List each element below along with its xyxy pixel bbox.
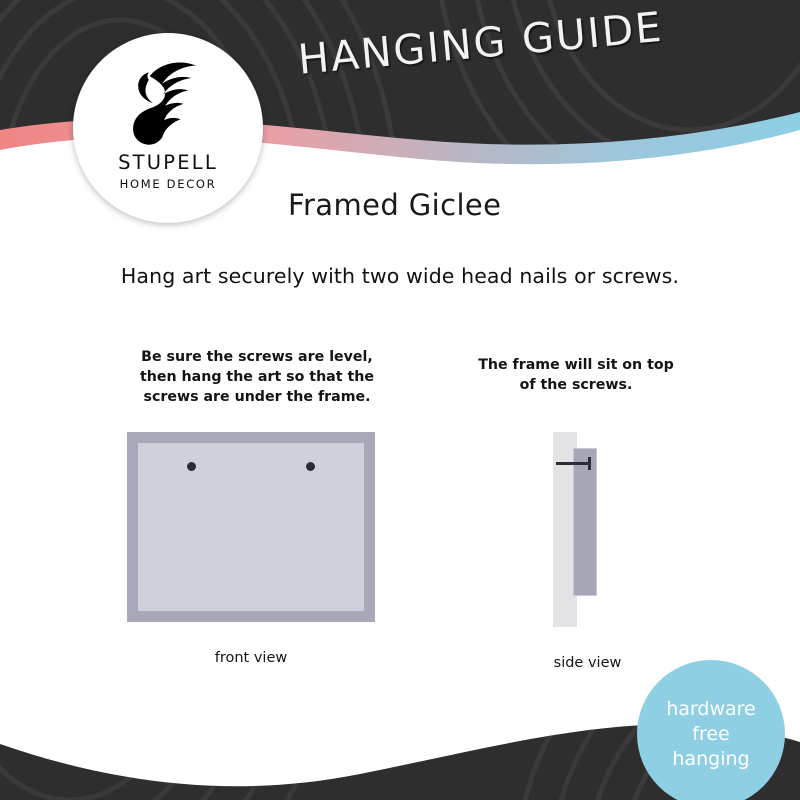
front-view-mat [138, 443, 364, 611]
side-view-diagram [553, 432, 621, 627]
lead-instruction-text: Hang art securely with two wide head nai… [0, 264, 800, 288]
screw-dot-icon [306, 462, 315, 471]
side-view-instruction: The frame will sit on top of the screws. [468, 355, 684, 395]
screw-shaft-icon [556, 462, 590, 465]
brand-name: STUPELL [118, 151, 218, 174]
frame-profile [573, 448, 597, 596]
side-view-caption: side view [500, 655, 675, 671]
badge-line-1: hardware [666, 697, 756, 722]
badge-line-3: hanging [672, 747, 749, 772]
brand-tagline: HOME DECOR [120, 177, 217, 191]
front-view-instruction: Be sure the screws are level, then hang … [137, 347, 377, 407]
screw-head-icon [588, 457, 591, 470]
front-view-diagram [127, 432, 375, 622]
hardware-free-hanging-badge: hardware free hanging [637, 660, 785, 800]
hanging-guide-page: HANGING GUIDE STUPELL HOME DECOR Framed … [0, 0, 800, 800]
front-view-caption: front view [127, 650, 375, 666]
product-type-heading: Framed Giclee [288, 188, 501, 222]
stupell-s-swoosh-icon [120, 55, 216, 147]
badge-line-2: free [692, 722, 729, 747]
page-title: HANGING GUIDE [296, 3, 665, 84]
brand-logo-badge: STUPELL HOME DECOR [73, 33, 263, 223]
screw-dot-icon [187, 462, 196, 471]
